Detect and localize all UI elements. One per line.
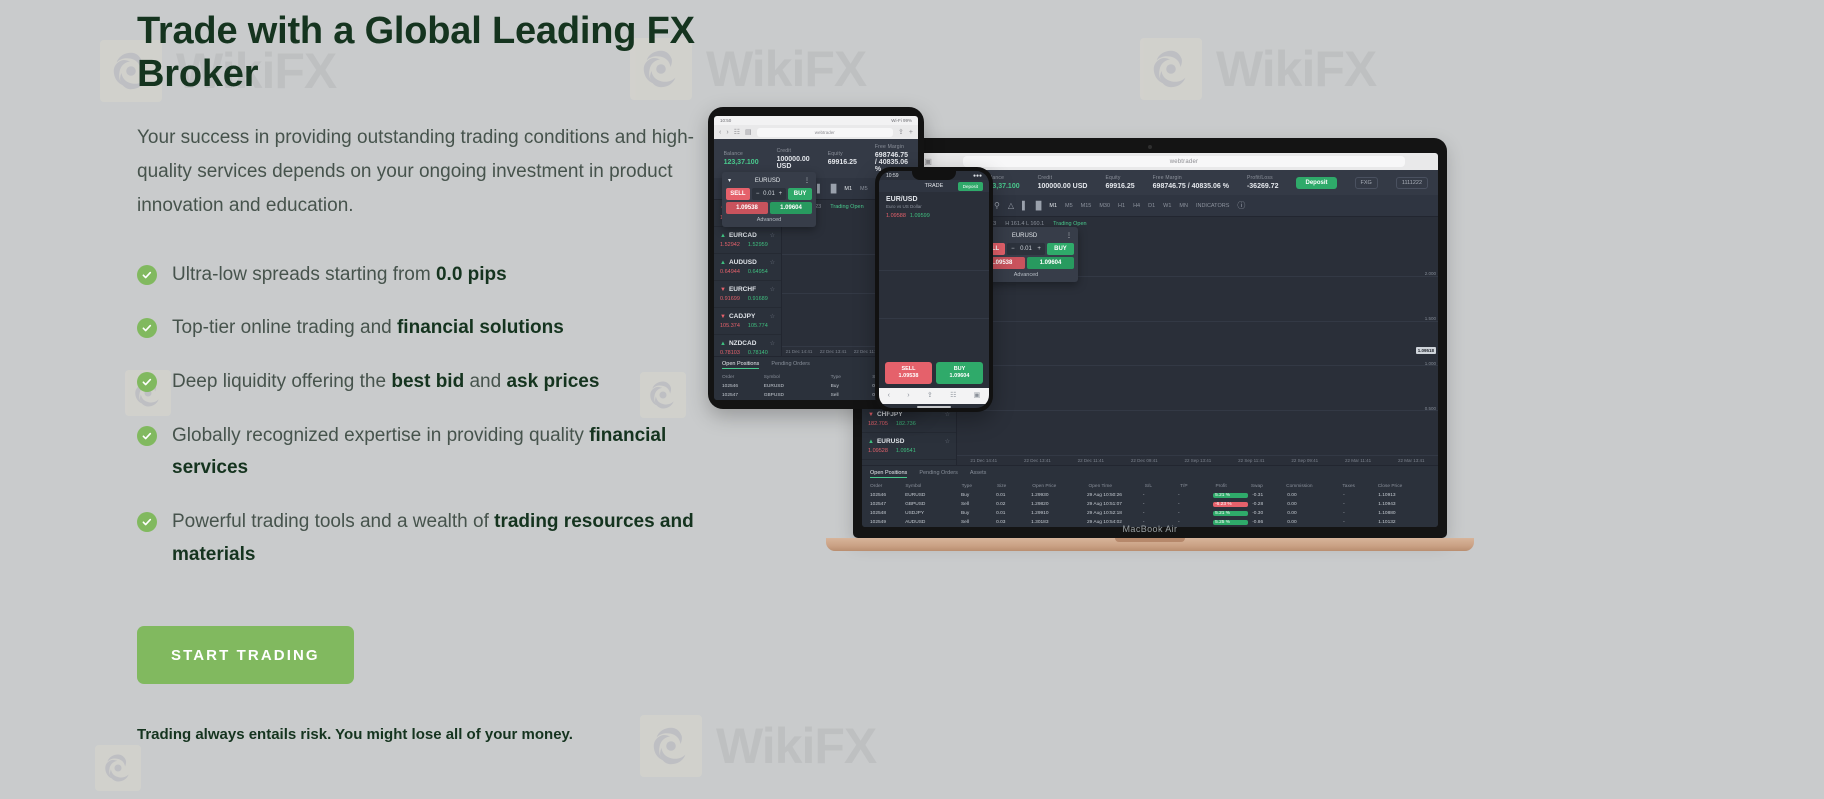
deposit-button[interactable]: Deposit [1296, 177, 1336, 189]
increment-icon[interactable]: + [1037, 246, 1041, 252]
laptop-model-label: MacBook Air [853, 524, 1447, 534]
phone-browser-tabbar: ‹ › ⇪ ☷ ▣ [879, 388, 989, 404]
account-stat: Credit 100000.00 USD [777, 148, 810, 170]
buy-button[interactable]: BUY [1047, 243, 1074, 255]
tab-pending-orders[interactable]: Pending Orders [771, 361, 810, 369]
watchlist-row[interactable]: ▼CADJPY☆ 105.374105.774 [714, 308, 781, 335]
arrow-down-icon: ▼ [720, 287, 726, 293]
devices-column: ‹ › ▣ webtrader Balance 123,37.100 [700, 0, 1824, 799]
forward-icon[interactable]: › [907, 392, 909, 399]
candlestick-series [879, 223, 989, 358]
status-time: 10:50 [720, 118, 731, 123]
feature-text: Top-tier online trading and financial so… [172, 312, 564, 345]
tab-pending-orders[interactable]: Pending Orders [919, 470, 958, 478]
account-stat-label: Credit [1038, 175, 1088, 181]
hero-subcopy: Your success in providing outstanding tr… [137, 121, 700, 222]
timeframe-d1[interactable]: D1 [1148, 203, 1155, 209]
buy-price[interactable]: 1.09604 [1027, 257, 1074, 269]
check-circle-icon [137, 265, 157, 285]
phone-price-chart[interactable] [879, 223, 989, 358]
sell-price: 1.09538 [885, 373, 932, 380]
table-row[interactable]: 102546 EURUSD Buy 0.01 1.29930 29 Aug 10… [862, 491, 1438, 500]
sell-button[interactable]: SELL 1.09538 [885, 362, 932, 384]
timeframe-w1[interactable]: W1 [1163, 203, 1171, 209]
buy-price: 1.09604 [936, 373, 983, 380]
back-icon[interactable]: ‹ [719, 129, 721, 136]
table-row[interactable]: 102547 GBPUSD Sell 0.02 1.29820 29 Aug 1… [862, 500, 1438, 509]
list-item: Powerful trading tools and a wealth of t… [137, 506, 697, 571]
symbol-label: EURUSD [877, 438, 904, 445]
timeframe-m1[interactable]: M1 [844, 186, 852, 192]
info-icon[interactable]: ⓘ [1237, 202, 1245, 210]
feature-text: Deep liquidity offering the best bid and… [172, 366, 599, 399]
feature-text: Ultra-low spreads starting from 0.0 pips [172, 259, 507, 292]
app-title: TRADE [925, 183, 944, 189]
add-tab-icon[interactable]: + [909, 129, 913, 136]
ask-price: 1.09541 [896, 448, 916, 454]
status-indicators: Wi-Fi 99% [891, 118, 912, 123]
account-stat: Profit/Loss -36269.72 [1247, 175, 1279, 190]
tablet-address-bar[interactable]: webtrader [757, 128, 893, 137]
chart-panel: 22 Sep 2023 H 161.4 L 160.1 Trading Open… [957, 217, 1438, 465]
buy-price[interactable]: 1.09604 [770, 202, 812, 214]
list-item: Deep liquidity offering the best bid and… [137, 366, 697, 399]
check-circle-icon [137, 426, 157, 446]
decrement-icon[interactable]: − [756, 191, 760, 197]
profit-badge: 5.21 % [1213, 493, 1248, 498]
positions-panel: Open Positions Pending Orders Assets Ord… [862, 465, 1438, 527]
timeframe-h1[interactable]: H1 [1118, 203, 1125, 209]
timeframe-h4[interactable]: H4 [1133, 203, 1140, 209]
settings-icon[interactable]: ⋮ [1066, 232, 1072, 239]
positions-tabs: Open Positions Pending Orders Assets [862, 466, 1438, 482]
star-icon[interactable]: ☆ [945, 438, 950, 445]
account-stat-label: Free Margin [1153, 175, 1229, 181]
start-trading-button[interactable]: START TRADING [137, 626, 354, 684]
arrow-up-icon: ▲ [720, 233, 726, 239]
bookmark-icon[interactable]: ☷ [950, 391, 956, 399]
watchlist-row[interactable]: ▲EURCAD☆ 1.529421.52959 [714, 227, 781, 254]
account-number-badge[interactable]: 1111222 [1396, 177, 1428, 189]
indicators-menu[interactable]: INDICATORS [1196, 203, 1229, 209]
order-symbol: EURUSD [1012, 233, 1037, 239]
check-circle-icon [137, 318, 157, 338]
share-icon[interactable]: ⇪ [927, 391, 933, 399]
bar-chart-icon[interactable]: ▌ [1022, 202, 1028, 210]
tab-open-positions[interactable]: Open Positions [870, 470, 907, 478]
account-stat: Free Margin 698746.75 / 40835.06 % [1153, 175, 1229, 190]
sell-price[interactable]: 1.09538 [726, 202, 768, 214]
tablet-order-ticket[interactable]: ▾ EURUSD ⋮ SELL − 0.01 [722, 172, 816, 227]
home-indicator [917, 406, 951, 408]
arrow-up-icon: ▲ [868, 439, 874, 445]
buy-button[interactable]: BUY 1.09604 [936, 362, 983, 384]
list-item: Globally recognized expertise in providi… [137, 420, 697, 485]
bid-price: 1.09528 [868, 448, 888, 454]
forward-icon[interactable]: › [726, 129, 728, 136]
share-icon[interactable]: ⇪ [898, 128, 904, 136]
back-icon[interactable]: ‹ [888, 392, 890, 399]
account-stat-value: -36269.72 [1247, 183, 1279, 190]
profit-badge: 5.21 % [1213, 511, 1248, 516]
phone-quote-row: 1.09588 1.09599 [879, 211, 989, 223]
timeframe-m30[interactable]: M30 [1099, 203, 1110, 209]
arrow-down-icon: ▼ [720, 314, 726, 320]
symbol-label: CHFJPY [877, 411, 903, 418]
advanced-toggle[interactable]: Advanced [726, 214, 812, 223]
candlestick-chart-icon[interactable]: █ [831, 185, 837, 193]
search-icon[interactable]: ⚲ [994, 202, 1000, 210]
profit-badge: -6.23 % [1213, 502, 1248, 507]
status-time: 10:59 [886, 173, 899, 179]
star-icon[interactable]: ☆ [945, 411, 950, 418]
list-item: Top-tier online trading and financial so… [137, 312, 697, 345]
star-icon[interactable]: ☆ [770, 313, 775, 320]
ask-price: 182.736 [896, 421, 916, 427]
feature-list: Ultra-low spreads starting from 0.0 pips… [137, 259, 697, 572]
phone-frame: 10:59 ●●● TRADE Deposit EUR/USD Euro vs … [875, 167, 993, 412]
bid-price: 1.09588 [886, 213, 906, 219]
risk-disclaimer: Trading always entails risk. You might l… [137, 726, 700, 743]
status-indicators: ●●● [973, 173, 982, 179]
arrow-up-icon: ▲ [720, 260, 726, 266]
tab-open-positions[interactable]: Open Positions [722, 361, 759, 369]
volume-stepper[interactable]: − 0.01 + [1007, 243, 1045, 255]
star-icon[interactable]: ☆ [770, 340, 775, 347]
last-price-badge: 1.09518 [1416, 347, 1436, 354]
increment-icon[interactable]: + [779, 191, 783, 197]
phone-app-bar: TRADE Deposit [879, 180, 989, 192]
watchlist-row[interactable]: ▲EURUSD☆ 1.095281.09541 [862, 433, 956, 460]
deposit-button[interactable]: Deposit [958, 182, 983, 191]
check-circle-icon [137, 372, 157, 392]
feature-text: Globally recognized expertise in providi… [172, 420, 697, 485]
tablet-status-bar: 10:50 Wi-Fi 99% [714, 116, 918, 125]
reader-icon[interactable]: ▤ [745, 128, 752, 136]
ask-price: 1.09599 [910, 213, 930, 219]
timeframe-m5[interactable]: M5 [1065, 203, 1073, 209]
laptop-base-lip [1115, 538, 1185, 542]
star-icon[interactable]: ☆ [770, 259, 775, 266]
webcam-icon [1148, 145, 1152, 149]
positions-header: Order Symbol Type Size Open Price Open T… [862, 482, 1438, 491]
bar-chart-icon[interactable]: ▌ [817, 185, 823, 193]
settings-icon[interactable]: ⋮ [804, 177, 810, 184]
watchlist-row[interactable]: ▲AUDUSD☆ 0.649440.64954 [714, 254, 781, 281]
laptop-base [826, 538, 1474, 551]
sidebar-icon[interactable]: ▣ [924, 157, 932, 166]
account-stat: Equity 69916.25 [828, 151, 857, 166]
volume-value: 0.01 [1020, 246, 1032, 252]
check-circle-icon [137, 512, 157, 532]
account-stat: Credit 100000.00 USD [1038, 175, 1088, 190]
hero-copy-column: Trade with a Global Leading FX Broker Yo… [0, 0, 700, 799]
chevron-down-icon[interactable]: ▾ [728, 177, 731, 184]
line-chart-icon[interactable]: △ [1008, 202, 1014, 210]
star-icon[interactable]: ☆ [770, 286, 775, 293]
phone-trade-actions: SELL 1.09538 BUY 1.09604 [879, 358, 989, 388]
decrement-icon[interactable]: − [1011, 246, 1015, 252]
timeframe-m15[interactable]: M15 [1081, 203, 1092, 209]
sell-button[interactable]: SELL [726, 188, 750, 200]
phone-symbol-header: EUR/USD Euro vs US Dollar [879, 192, 989, 211]
phone-webtrader-screen: 10:59 ●●● TRADE Deposit EUR/USD Euro vs … [879, 171, 989, 408]
arrow-down-icon: ▼ [868, 412, 874, 418]
symbol-description: Euro vs US Dollar [886, 204, 982, 209]
tabs-icon[interactable]: ▣ [974, 391, 981, 399]
candlestick-chart-icon[interactable]: █ [1036, 202, 1042, 210]
account-stat-label: Profit/Loss [1247, 175, 1279, 181]
account-type-badge[interactable]: FXG [1355, 177, 1378, 189]
list-item: Ultra-low spreads starting from 0.0 pips [137, 259, 697, 292]
watchlist-row[interactable]: ▼EURCHF☆ 0.916990.91689 [714, 281, 781, 308]
table-row[interactable]: 102548 USDJPY Buy 0.01 1.29910 29 Aug 10… [862, 509, 1438, 518]
page-title: Trade with a Global Leading FX Broker [137, 10, 700, 95]
account-stat-value: 100000.00 USD [1038, 183, 1088, 190]
notch [912, 171, 956, 180]
timeframe-m5[interactable]: M5 [860, 186, 868, 192]
bid-price: 182.705 [868, 421, 888, 427]
symbol-label: EUR/USD [886, 196, 982, 203]
address-bar[interactable]: webtrader [963, 156, 1405, 167]
tablet-browser-chrome: ‹ › ☷ ▤ webtrader ⇪ + [714, 125, 918, 139]
account-stat-label: Equity [1105, 175, 1134, 181]
volume-stepper[interactable]: − 0.01 + [752, 188, 786, 200]
account-stat-value: 698746.75 / 40835.06 % [1153, 183, 1229, 190]
hero-section: Trade with a Global Leading FX Broker Yo… [0, 0, 1824, 799]
timeframe-mn[interactable]: MN [1179, 203, 1188, 209]
buy-button[interactable]: BUY [788, 188, 812, 200]
phone-device: 10:59 ●●● TRADE Deposit EUR/USD Euro vs … [875, 167, 993, 412]
watchlist-row[interactable]: ▲NZDCAD☆ 0.781030.78140 [714, 335, 781, 356]
tab-assets[interactable]: Assets [970, 470, 987, 478]
feature-text: Powerful trading tools and a wealth of t… [172, 506, 697, 571]
price-axis: 2.000 1.500 1.000 0.500 1.09518 [1414, 231, 1436, 455]
time-axis: 21 Dec 14:41 22 Dec 13:41 22 Dec 11:41 2… [957, 455, 1438, 465]
account-stat: Balance 123,37.100 [724, 151, 759, 166]
star-icon[interactable]: ☆ [770, 232, 775, 239]
account-stat-value: 69916.25 [1105, 183, 1134, 190]
arrow-up-icon: ▲ [720, 341, 726, 347]
bookmarks-icon[interactable]: ☷ [734, 128, 740, 136]
account-stat: Equity 69916.25 [1105, 175, 1134, 190]
timeframe-m1[interactable]: M1 [1049, 203, 1057, 209]
